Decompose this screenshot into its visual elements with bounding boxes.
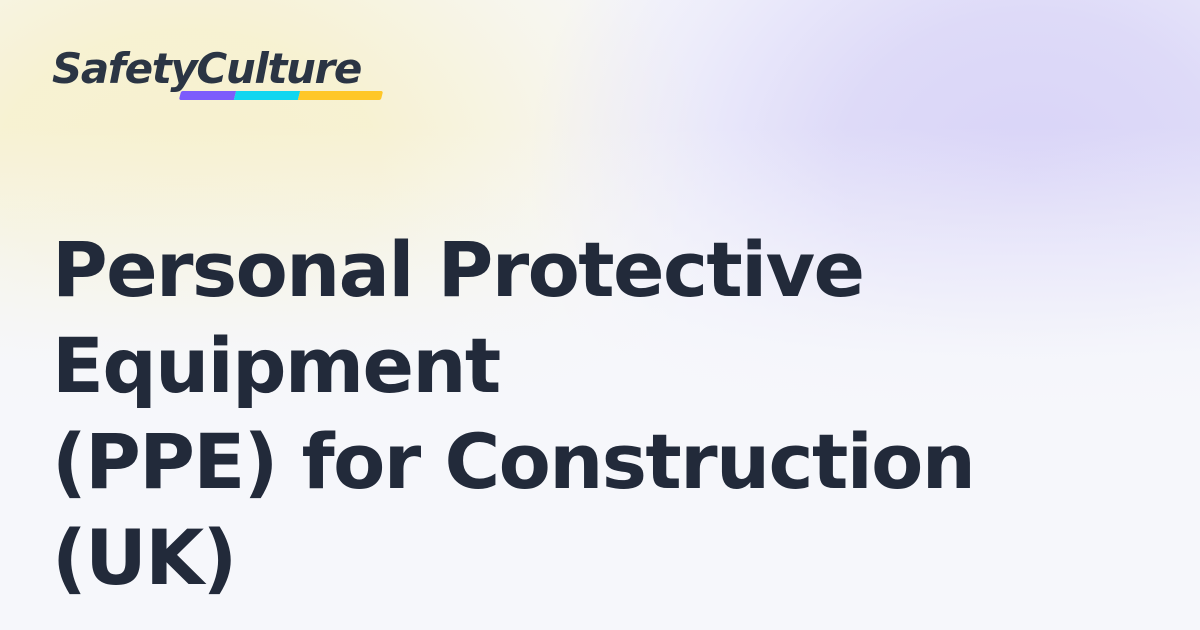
brand-underline-accent: [179, 91, 383, 100]
social-share-card: SafetyCulture Personal Protective Equipm…: [0, 0, 1200, 630]
brand-wordmark-culture: Culture: [196, 44, 361, 93]
brand-wordmark: SafetyCulture: [52, 48, 361, 90]
brand-wordmark-safety: Safety: [52, 44, 196, 93]
page-title-line-one: Personal Protective Equipment: [52, 225, 863, 410]
brand-underline-segment-cyan: [234, 91, 300, 100]
safetyculture-logo[interactable]: SafetyCulture: [52, 48, 361, 90]
page-title-line-two: (PPE) for Construction (UK): [52, 417, 974, 602]
brand-underline-segment-purple: [179, 91, 236, 100]
headline-block: Personal Protective Equipment(PPE) for C…: [52, 222, 1162, 606]
brand-underline-segment-yellow: [298, 91, 383, 100]
page-title: Personal Protective Equipment(PPE) for C…: [52, 222, 1162, 606]
